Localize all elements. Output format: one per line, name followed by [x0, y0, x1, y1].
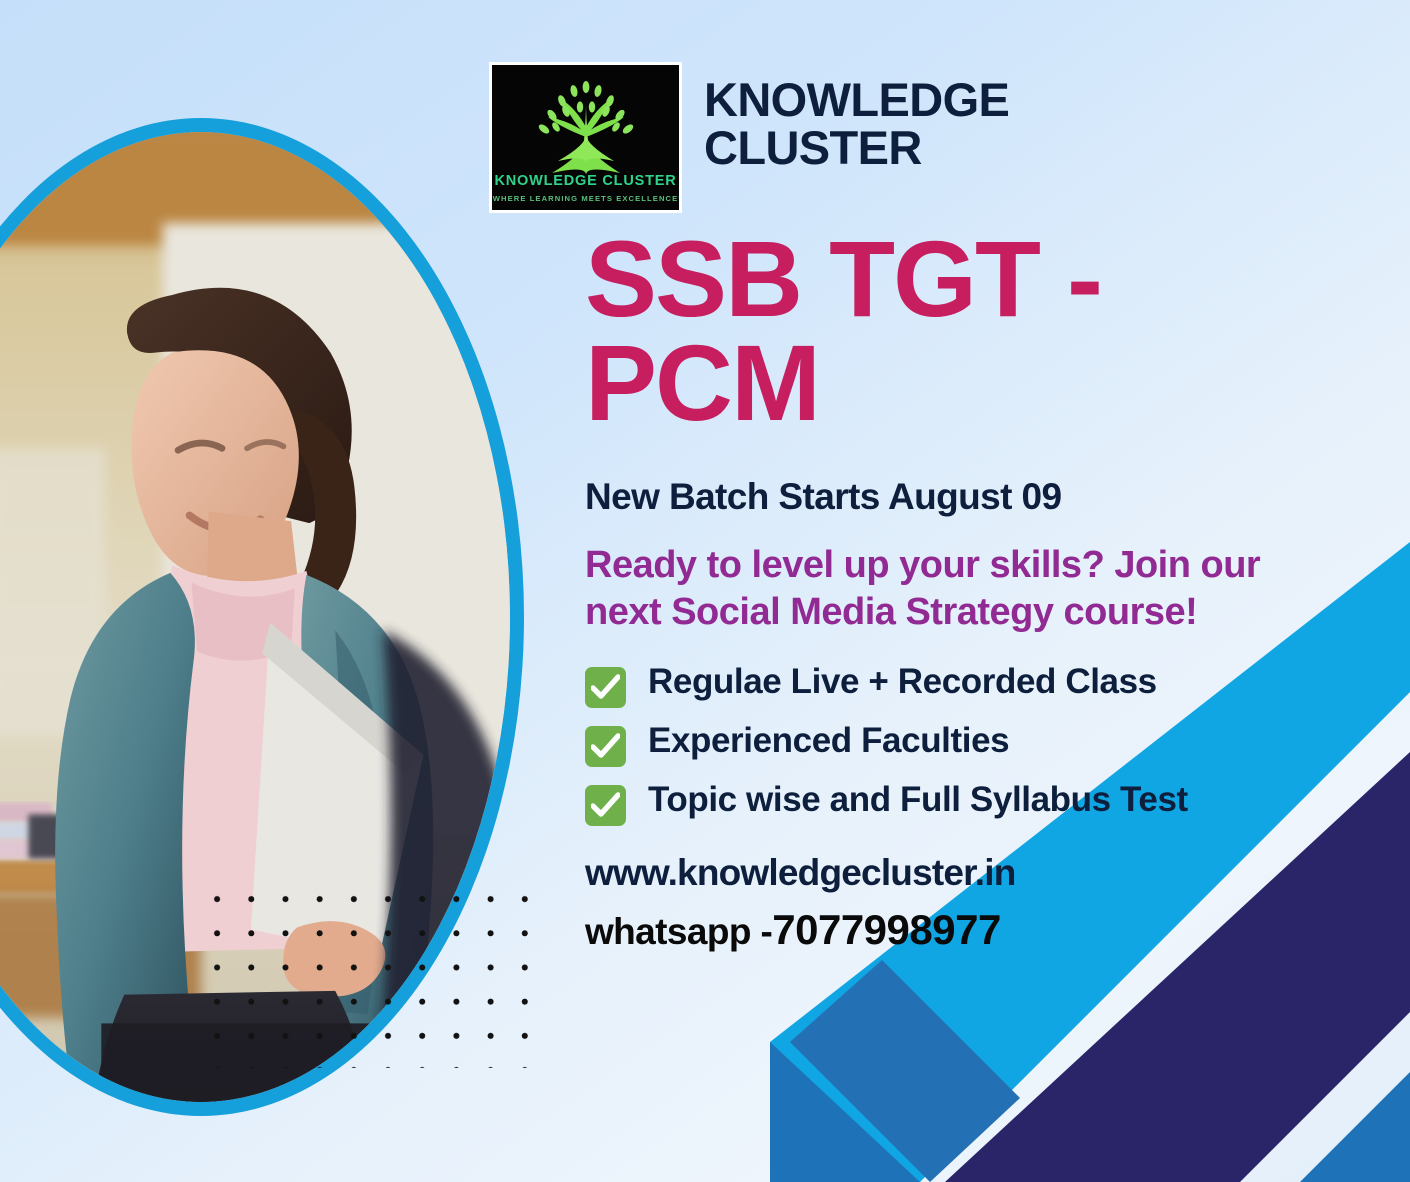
knowledge-cluster-logo: KNOWLEDGE CLUSTER "WHERE LEARNING MEETS …: [489, 62, 682, 213]
logo-tagline: "WHERE LEARNING MEETS EXCELLENCE": [492, 194, 679, 203]
brand-name-line1: KNOWLEDGE: [704, 76, 1009, 124]
check-glyph: [591, 674, 620, 701]
feature-label: Regulae Live + Recorded Class: [648, 661, 1157, 702]
list-item: Regulae Live + Recorded Class: [585, 661, 1299, 708]
headline-line2: PCM: [585, 331, 1299, 435]
check-icon: [585, 726, 626, 767]
check-glyph: [591, 733, 620, 760]
logo-art: KNOWLEDGE CLUSTER "WHERE LEARNING MEETS …: [492, 65, 679, 210]
brand-name-line2: CLUSTER: [704, 124, 1009, 172]
pitch-text: Ready to level up your skills? Join our …: [489, 542, 1299, 635]
list-item: Experienced Faculties: [585, 720, 1299, 767]
feature-label: Experienced Faculties: [648, 720, 1009, 761]
check-icon: [585, 667, 626, 708]
website-url[interactable]: www.knowledgecluster.in: [489, 852, 1299, 894]
stripe-bottom-blue: [1300, 1072, 1410, 1182]
classroom-photo: [0, 132, 510, 1102]
whatsapp-contact[interactable]: whatsapp - 7077998977: [489, 906, 1299, 954]
page-title: SSB TGT - PCM: [489, 227, 1299, 434]
photo-ring: [0, 118, 524, 1116]
stripe-triangle-mid-blue: [770, 1042, 920, 1182]
feature-list: Regulae Live + Recorded Class Experience…: [489, 661, 1299, 826]
check-glyph: [591, 792, 620, 819]
list-item: Topic wise and Full Syllabus Test: [585, 779, 1299, 826]
flyer-canvas: KNOWLEDGE CLUSTER "WHERE LEARNING MEETS …: [0, 0, 1410, 1182]
feature-label: Topic wise and Full Syllabus Test: [648, 779, 1188, 820]
whatsapp-number[interactable]: 7077998977: [772, 906, 1001, 954]
headline-line1: SSB TGT -: [585, 227, 1299, 331]
photo-circle: [0, 118, 538, 1130]
stripe-wedge-mid-blue: [790, 960, 1020, 1182]
classroom-photo-art: [0, 132, 510, 1102]
logo-wordmark: KNOWLEDGE CLUSTER: [495, 173, 677, 189]
content-column: KNOWLEDGE CLUSTER "WHERE LEARNING MEETS …: [489, 62, 1299, 954]
whatsapp-label: whatsapp -: [585, 911, 772, 953]
brand-name: KNOWLEDGE CLUSTER: [704, 62, 1009, 172]
batch-start-text: New Batch Starts August 09: [489, 476, 1299, 518]
check-icon: [585, 785, 626, 826]
brand-header: KNOWLEDGE CLUSTER "WHERE LEARNING MEETS …: [489, 62, 1299, 213]
